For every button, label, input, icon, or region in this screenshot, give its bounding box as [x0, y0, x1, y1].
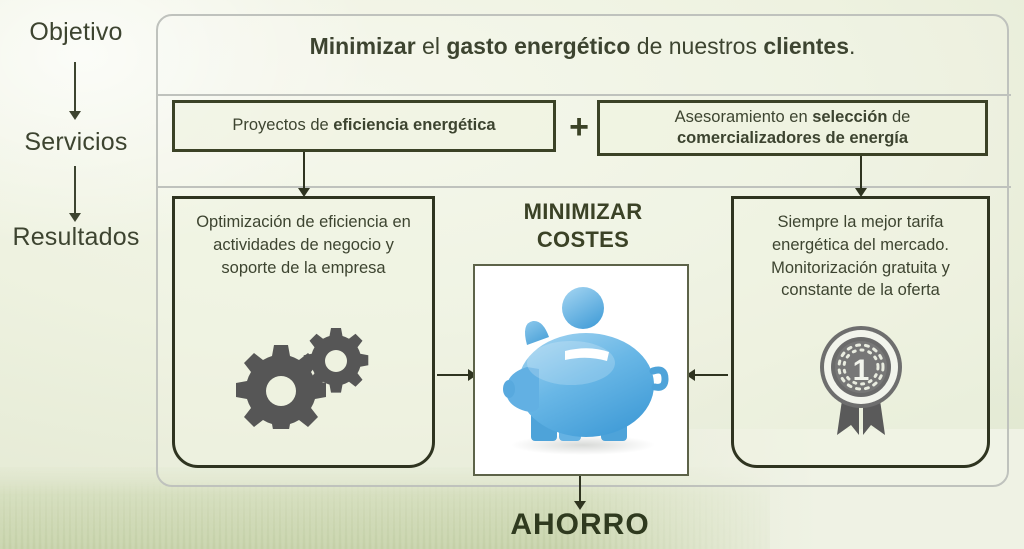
center-title-line1: MINIMIZAR: [458, 198, 708, 226]
result-left-text: Optimización de eficiencia en actividade…: [175, 211, 432, 279]
panel-divider-2: [158, 186, 1011, 188]
arrow-down-to-ahorro: [579, 476, 581, 502]
gears-icon-wrap: [175, 325, 432, 429]
gears-icon: [229, 325, 379, 429]
result-box-optimization[interactable]: Optimización de eficiencia en actividade…: [172, 196, 435, 468]
ahorro-label: AHORRO: [440, 508, 720, 542]
rail-arrow-down-1: [74, 62, 76, 112]
objective-part-1: Minimizar: [310, 33, 416, 59]
center-title-line2: COSTES: [458, 226, 708, 254]
award-ribbon-icon-wrap: 1: [734, 319, 987, 439]
objective-part-2: el: [416, 33, 447, 59]
center-title: MINIMIZAR COSTES: [458, 198, 708, 253]
stage-rail: Objetivo Servicios Resultados: [0, 18, 152, 258]
rail-label-resultados: Resultados: [0, 223, 152, 252]
service-box-advisory[interactable]: Asesoramiento en selección de comerciali…: [597, 100, 988, 156]
objective-part-4: de nuestros: [630, 33, 763, 59]
service-right-bold-2: comercializadores de energía: [677, 129, 908, 147]
connector-arrow-left: [303, 152, 305, 189]
service-left-text: Proyectos de eficiencia energética: [232, 115, 495, 136]
piggy-bank-icon: [483, 275, 679, 465]
result-box-tariff[interactable]: Siempre la mejor tarifa energética del m…: [731, 196, 990, 468]
objective-part-3: gasto energético: [446, 33, 630, 59]
result-right-text: Siempre la mejor tarifa energética del m…: [734, 211, 987, 302]
arrow-left-to-center: [437, 374, 469, 376]
service-right-normal-a: Asesoramiento en: [675, 108, 813, 126]
connector-arrow-right: [860, 156, 862, 189]
piggy-bank-frame: [473, 264, 689, 476]
arrow-right-to-center: [694, 374, 728, 376]
service-right-bold-1: selección: [812, 108, 887, 126]
rail-label-objetivo: Objetivo: [0, 18, 152, 47]
service-right-text: Asesoramiento en selección de comerciali…: [675, 107, 911, 150]
svg-text:1: 1: [852, 354, 869, 387]
rail-arrow-down-2: [74, 166, 76, 214]
service-left-bold: eficiencia energética: [333, 116, 495, 134]
service-right-normal-b: de: [887, 108, 910, 126]
service-left-normal: Proyectos de: [232, 116, 333, 134]
service-box-efficiency[interactable]: Proyectos de eficiencia energética: [172, 100, 556, 152]
panel-divider-1: [158, 94, 1011, 96]
rail-label-servicios: Servicios: [0, 128, 152, 157]
objective-part-6: .: [849, 33, 855, 59]
plus-icon: +: [566, 110, 592, 144]
objective-part-5: clientes: [763, 33, 849, 59]
slide-canvas: Objetivo Servicios Resultados Minimizar …: [0, 0, 1024, 549]
objective-headline: Minimizar el gasto energético de nuestro…: [156, 32, 1009, 61]
award-ribbon-icon: 1: [807, 319, 915, 439]
